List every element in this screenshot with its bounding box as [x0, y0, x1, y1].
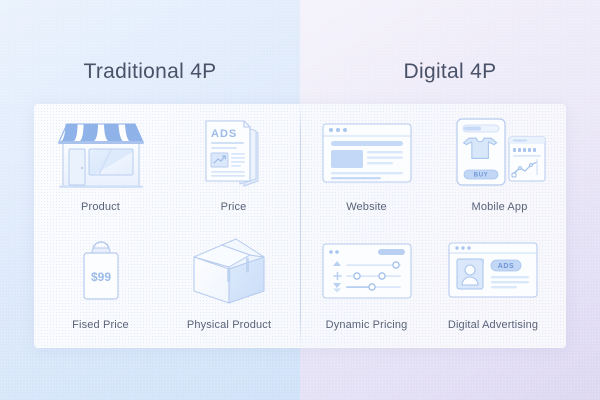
- infographic-canvas: Traditional 4P Digital 4P: [0, 0, 600, 400]
- ad-badge-text: ADS: [498, 263, 515, 270]
- cardboard-box-icon: [154, 230, 304, 312]
- item-label: Mobile App: [433, 201, 566, 213]
- traditional-4p-group: Product ADS: [34, 104, 300, 348]
- title-digital-4p: Digital 4P: [300, 60, 600, 84]
- ad-banner-browser-icon: ADS: [418, 230, 566, 312]
- item-label: Website: [300, 201, 433, 213]
- item-label: Physical Product: [154, 319, 304, 331]
- buy-button-text: BUY: [473, 173, 487, 179]
- item-website[interactable]: Website: [300, 112, 433, 213]
- price-tag-amount-text: $99: [90, 270, 110, 284]
- item-label: Fised Price: [34, 319, 167, 331]
- item-fised-price[interactable]: $99 Fised Price: [34, 230, 167, 331]
- item-mobile-app[interactable]: BUY: [433, 112, 566, 213]
- content-panel: Product ADS: [34, 104, 566, 348]
- item-label: Price: [167, 201, 300, 213]
- newspaper-heading-text: ADS: [211, 128, 237, 140]
- item-product[interactable]: Product: [34, 112, 167, 213]
- digital-4p-group: Website BUY: [300, 104, 566, 348]
- item-label: Dynamic Pricing: [300, 319, 433, 331]
- slider-dashboard-icon: [300, 230, 433, 312]
- item-label: Digital Advertising: [418, 319, 566, 331]
- price-tag-icon: $99: [34, 230, 167, 312]
- item-dynamic-pricing[interactable]: Dynamic Pricing: [300, 230, 433, 331]
- item-physical-product[interactable]: Physical Product: [154, 230, 304, 331]
- item-label: Product: [34, 201, 167, 213]
- title-traditional-4p: Traditional 4P: [0, 60, 300, 84]
- section-titles: Traditional 4P Digital 4P: [0, 0, 600, 104]
- ads-newspaper-icon: ADS: [167, 112, 300, 194]
- smartphone-shop-icon: BUY: [433, 112, 566, 194]
- item-price[interactable]: ADS: [167, 112, 300, 213]
- item-digital-advertising[interactable]: ADS Digital Advertising: [418, 230, 566, 331]
- browser-window-icon: [300, 112, 433, 194]
- storefront-icon: [34, 112, 167, 194]
